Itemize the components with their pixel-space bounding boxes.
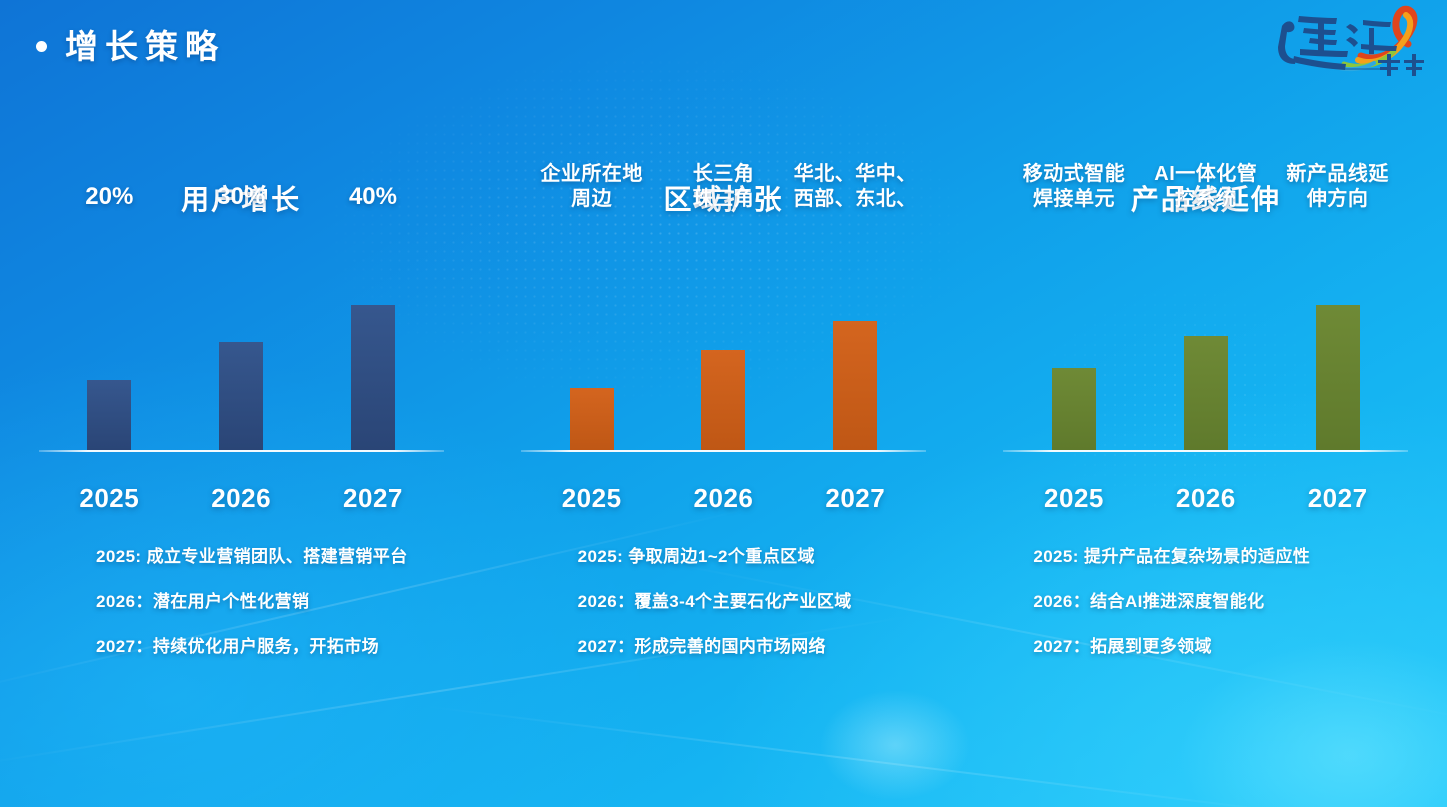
- x-tick-2025: 2025: [43, 483, 175, 514]
- x-tick-2026: 2026: [658, 483, 790, 514]
- note-item: 2026：潜在用户个性化营销: [96, 593, 510, 610]
- bar[interactable]: [87, 380, 131, 450]
- notes-product-line-extension: 2025: 提升产品在复杂场景的适应性 2026：结合AI推进深度智能化 202…: [991, 548, 1447, 708]
- chart-user-growth: 用户增长 20% 30% 40%: [0, 160, 482, 530]
- bar-group[interactable]: 企业所在地周边: [526, 220, 658, 450]
- note-item: 2026：覆盖3-4个主要石化产业区域: [578, 593, 992, 610]
- bar[interactable]: [351, 305, 395, 450]
- x-axis-line: [39, 450, 444, 452]
- bar-group[interactable]: 新产品线延伸方向: [1272, 220, 1404, 450]
- bar-value-label: 华北、华中、西部、东北、: [794, 162, 917, 211]
- note-item: 2025: 提升产品在复杂场景的适应性: [1033, 548, 1447, 565]
- x-tick-2026: 2026: [175, 483, 307, 514]
- light-streak: [423, 705, 1317, 807]
- bar[interactable]: [570, 388, 614, 450]
- page-title: 增长策略: [36, 20, 225, 68]
- bar-group[interactable]: 移动式智能焊接单元: [1008, 220, 1140, 450]
- bar-value-label: 企业所在地周边: [540, 162, 643, 211]
- plot-area: 移动式智能焊接单元 AI一体化管控系统 新产品线延伸方向: [965, 220, 1447, 452]
- x-tick-2027: 2027: [1272, 483, 1404, 514]
- jianzheng-weilai-logo: [1266, 4, 1431, 80]
- slide-canvas: 增长策略: [0, 0, 1447, 807]
- note-item: 2026：结合AI推进深度智能化: [1033, 593, 1447, 610]
- bar[interactable]: [833, 321, 877, 450]
- bar[interactable]: [1052, 368, 1096, 450]
- bar-value-label: 40%: [349, 182, 397, 211]
- bar-value-label: 长三角珠三角: [693, 162, 755, 211]
- charts-row: 用户增长 20% 30% 40%: [0, 160, 1447, 530]
- bar-value-label: 新产品线延伸方向: [1286, 162, 1389, 211]
- notes-regional-expansion: 2025: 争取周边1~2个重点区域 2026：覆盖3-4个主要石化产业区域 2…: [510, 548, 992, 708]
- x-axis-tick-labels: 2025 2026 2027: [0, 483, 482, 514]
- bar-group[interactable]: 长三角珠三角: [658, 220, 790, 450]
- bar-group[interactable]: 20%: [43, 220, 175, 450]
- note-item: 2025: 成立专业营销团队、搭建营销平台: [96, 548, 510, 565]
- bar-value-label: AI一体化管控系统: [1154, 162, 1257, 211]
- bar-group[interactable]: 华北、华中、西部、东北、: [789, 220, 921, 450]
- note-item: 2027：持续优化用户服务，开拓市场: [96, 638, 510, 655]
- bar-series: 移动式智能焊接单元 AI一体化管控系统 新产品线延伸方向: [965, 220, 1447, 450]
- bar[interactable]: [219, 342, 263, 450]
- x-axis-tick-labels: 2025 2026 2027: [482, 483, 964, 514]
- x-axis-line: [521, 450, 926, 452]
- chart-regional-expansion: 区域扩张 企业所在地周边 长三角珠三角 华北、华中、西部、东北、: [482, 160, 964, 530]
- bar-series: 20% 30% 40%: [0, 220, 482, 450]
- x-tick-2025: 2025: [1008, 483, 1140, 514]
- note-item: 2027：拓展到更多领域: [1033, 638, 1447, 655]
- x-axis-line: [1003, 450, 1408, 452]
- bar-value-label: 30%: [217, 182, 265, 211]
- notes-row: 2025: 成立专业营销团队、搭建营销平台 2026：潜在用户个性化营销 202…: [0, 548, 1447, 708]
- bar-value-label: 20%: [85, 182, 133, 211]
- bar-group[interactable]: AI一体化管控系统: [1140, 220, 1272, 450]
- note-item: 2027：形成完善的国内市场网络: [578, 638, 992, 655]
- x-tick-2025: 2025: [526, 483, 658, 514]
- bar[interactable]: [1184, 336, 1228, 450]
- x-tick-2027: 2027: [307, 483, 439, 514]
- page-title-text: 增长策略: [65, 20, 225, 68]
- bar-value-label: 移动式智能焊接单元: [1023, 162, 1126, 211]
- bar-group[interactable]: 30%: [175, 220, 307, 450]
- notes-user-growth: 2025: 成立专业营销团队、搭建营销平台 2026：潜在用户个性化营销 202…: [0, 548, 510, 708]
- x-tick-2026: 2026: [1140, 483, 1272, 514]
- x-axis-tick-labels: 2025 2026 2027: [965, 483, 1447, 514]
- note-item: 2025: 争取周边1~2个重点区域: [578, 548, 992, 565]
- bar-group[interactable]: 40%: [307, 220, 439, 450]
- x-tick-2027: 2027: [789, 483, 921, 514]
- bullet-dot-icon: [36, 41, 47, 52]
- plot-area: 20% 30% 40%: [0, 220, 482, 452]
- plot-area: 企业所在地周边 长三角珠三角 华北、华中、西部、东北、: [482, 220, 964, 452]
- bar[interactable]: [1316, 305, 1360, 450]
- bar-series: 企业所在地周边 长三角珠三角 华北、华中、西部、东北、: [482, 220, 964, 450]
- chart-product-line-extension: 产品线延伸 移动式智能焊接单元 AI一体化管控系统 新产品线延伸方向: [965, 160, 1447, 530]
- bar[interactable]: [701, 350, 745, 450]
